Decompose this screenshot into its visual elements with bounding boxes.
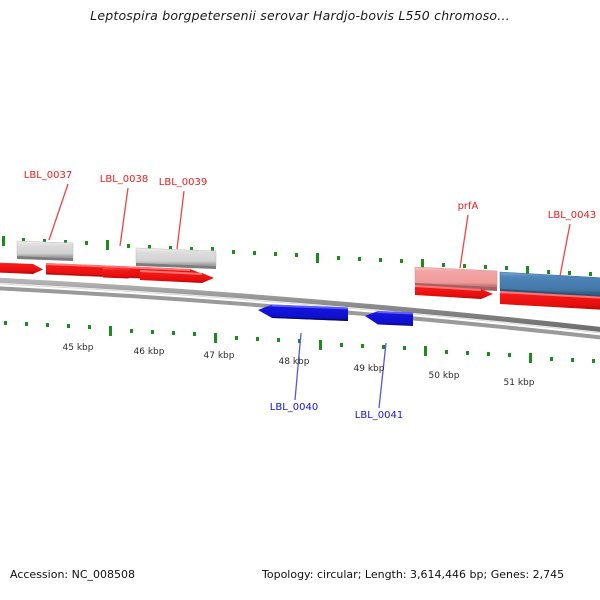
genome-stats-label: Topology: circular; Length: 3,614,446 bp… bbox=[262, 568, 564, 581]
genome-map-svg[interactable]: LBL_0037 LBL_0038 LBL_0039 prfA LBL_0043 bbox=[0, 0, 600, 560]
label-lbl-0037[interactable]: LBL_0037 bbox=[24, 170, 72, 240]
label-prfa-text: prfA bbox=[458, 201, 479, 212]
genome-map-canvas[interactable]: LBL_0037 LBL_0038 LBL_0039 prfA LBL_0043 bbox=[0, 0, 600, 560]
label-lbl-0039-text: LBL_0039 bbox=[159, 177, 207, 188]
label-lbl-0043[interactable]: LBL_0043 bbox=[548, 210, 596, 276]
label-lbl-0041-text: LBL_0041 bbox=[355, 410, 403, 421]
label-lbl-0043-text: LBL_0043 bbox=[548, 210, 596, 221]
label-lbl-0038-text: LBL_0038 bbox=[100, 174, 148, 185]
label-lbl-0038[interactable]: LBL_0038 bbox=[100, 174, 148, 246]
cds-box-lbl-0039[interactable] bbox=[136, 248, 216, 269]
gene-arrow-lbl-0039[interactable] bbox=[140, 270, 214, 283]
status-footer: Accession: NC_008508 Topology: circular;… bbox=[0, 560, 600, 600]
gene-arrow-lbl-0041[interactable] bbox=[365, 311, 413, 326]
label-lbl-0039[interactable]: LBL_0039 bbox=[159, 177, 207, 249]
label-prfa[interactable]: prfA bbox=[458, 201, 479, 268]
ruler-tick-label: 46 kbp bbox=[134, 347, 165, 357]
label-lbl-0040[interactable]: LBL_0040 bbox=[270, 333, 318, 413]
label-lbl-0037-text: LBL_0037 bbox=[24, 170, 72, 181]
ruler-tick-label: 47 kbp bbox=[204, 351, 235, 361]
ruler-tick-label: 49 kbp bbox=[354, 364, 385, 374]
ruler-tick-label: 50 kbp bbox=[429, 371, 460, 381]
label-lbl-0041[interactable]: LBL_0041 bbox=[355, 343, 403, 421]
accession-label: Accession: NC_008508 bbox=[10, 568, 135, 581]
gene-arrow-partial-left[interactable] bbox=[0, 262, 43, 274]
cds-box-lbl-0037[interactable] bbox=[17, 241, 73, 261]
gene-arrow-lbl-0040[interactable] bbox=[258, 305, 348, 322]
ruler-tick-label: 45 kbp bbox=[63, 343, 94, 353]
label-lbl-0040-text: LBL_0040 bbox=[270, 402, 318, 413]
feature-labels-above[interactable]: LBL_0037 LBL_0038 LBL_0039 prfA LBL_0043 bbox=[24, 170, 596, 276]
ruler-tick-labels: 45 kbp 46 kbp 47 kbp 48 kbp 49 kbp 50 kb… bbox=[63, 343, 535, 388]
ruler-tick-label: 51 kbp bbox=[504, 378, 535, 388]
ruler-tick-label: 48 kbp bbox=[279, 357, 310, 367]
